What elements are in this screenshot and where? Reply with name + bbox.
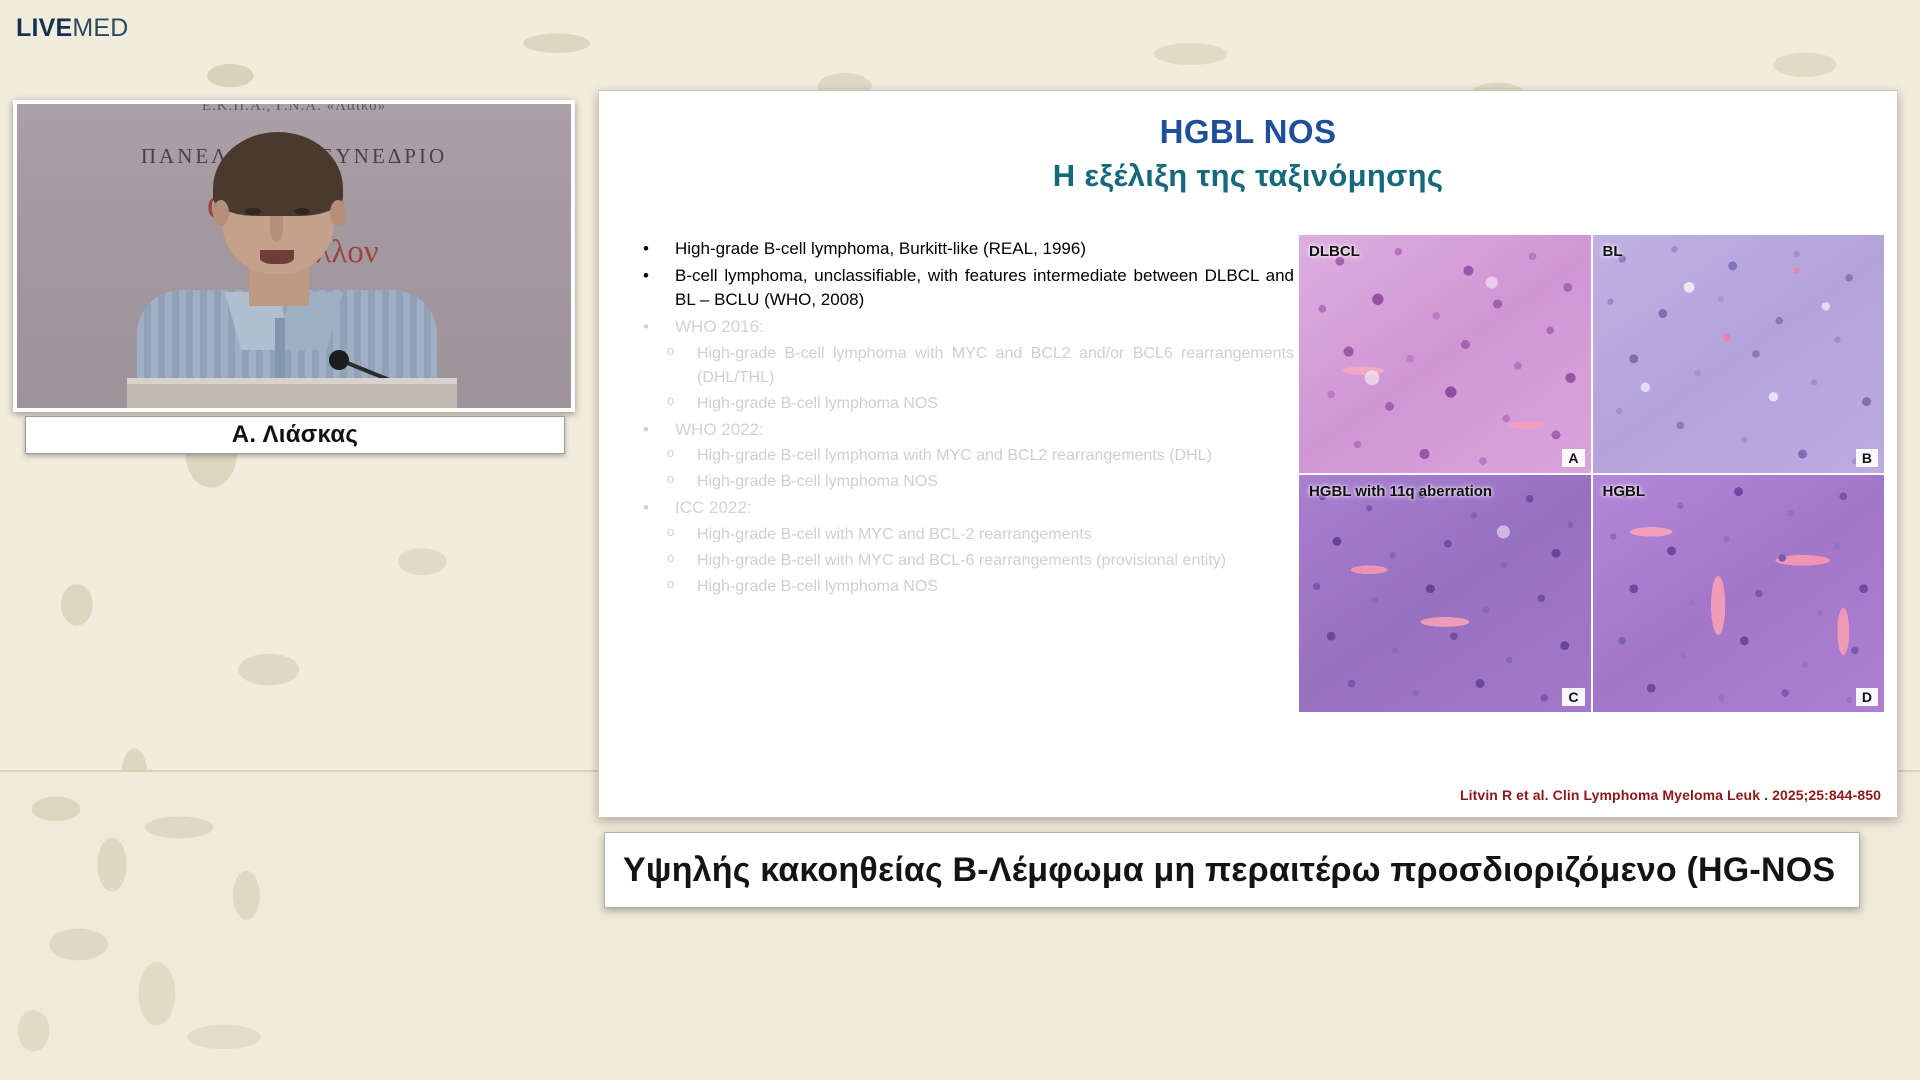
bullet-item: •ICC 2022: [639, 496, 1294, 521]
bullet-sub-text: High-grade B-cell lymphoma with MYC and … [697, 342, 1294, 390]
bullet-sub-item: oHigh-grade B-cell lymphoma NOS [639, 392, 1294, 416]
slide-bullet-list: •High-grade B-cell lymphoma, Burkitt-lik… [639, 237, 1294, 601]
histology-panel-a: DLBCL A [1299, 235, 1591, 473]
speaker-name: Α. Λιάσκας [232, 421, 358, 449]
bullet-marker: • [639, 315, 675, 340]
bullet-marker: • [639, 264, 675, 313]
bullet-sub-marker: o [639, 523, 697, 547]
livemed-logo: LIVEMED [16, 16, 129, 41]
tissue-image-d [1593, 475, 1885, 713]
bullet-sub-text: High-grade B-cell with MYC and BCL-2 rea… [697, 523, 1294, 547]
panel-c-label: HGBL with 11q aberration [1309, 483, 1492, 500]
presentation-slide[interactable]: HGBL NOS Η εξέλιξη της ταξινόμησης •High… [598, 90, 1898, 818]
tissue-image-a [1299, 235, 1591, 473]
bullet-item: •High-grade B-cell lymphoma, Burkitt-lik… [639, 237, 1294, 262]
bullet-item: •WHO 2022: [639, 418, 1294, 443]
bullet-sub-text: High-grade B-cell lymphoma with MYC and … [697, 444, 1294, 468]
speaker-name-plate: Α. Λιάσκας [25, 416, 565, 454]
tissue-image-c [1299, 475, 1591, 713]
speaker-ear-right [330, 200, 346, 226]
slide-title: HGBL NOS [599, 113, 1897, 151]
bullet-sub-item: oHigh-grade B-cell lymphoma with MYC and… [639, 444, 1294, 468]
histology-panel-d: HGBL D [1593, 475, 1885, 713]
panel-c-letter: C [1562, 688, 1584, 706]
speaker-brow-right [289, 196, 315, 202]
bullet-marker: • [639, 237, 675, 262]
speaker-brow-left [239, 196, 265, 202]
bullet-marker: • [639, 496, 675, 521]
speaker-ear-left [213, 200, 229, 226]
panel-d-label: HGBL [1603, 483, 1646, 500]
panel-a-label: DLBCL [1309, 243, 1360, 260]
bullet-sub-item: oHigh-grade B-cell lymphoma NOS [639, 470, 1294, 494]
page-footer: ΠΑΝΕΛΛΗΝΙΟ ΣΥΝΕΔΡΙΟ Θεραπείες από το Μέλ… [0, 780, 1920, 1080]
bullet-sub-item: oHigh-grade B-cell lymphoma NOS [639, 575, 1294, 599]
bullet-item: •WHO 2016: [639, 315, 1294, 340]
bullet-text: High-grade B-cell lymphoma, Burkitt-like… [675, 237, 1294, 262]
podium [127, 378, 457, 408]
speaker-eye-right [294, 208, 310, 215]
bullet-text: B-cell lymphoma, unclassifiable, with fe… [675, 264, 1294, 313]
bullet-marker: • [639, 418, 675, 443]
bullet-sub-marker: o [639, 549, 697, 573]
logo-live-text: LIVE [16, 14, 72, 42]
slide-subtitle: Η εξέλιξη της ταξινόμησης [599, 158, 1897, 194]
bullet-text: WHO 2022: [675, 418, 1294, 443]
bullet-text: ICC 2022: [675, 496, 1294, 521]
bullet-sub-marker: o [639, 392, 697, 416]
bullet-item: •B-cell lymphoma, unclassifiable, with f… [639, 264, 1294, 313]
bullet-sub-item: oHigh-grade B-cell lymphoma with MYC and… [639, 342, 1294, 390]
bullet-sub-marker: o [639, 444, 697, 468]
panel-d-letter: D [1856, 688, 1878, 706]
histology-figure: DLBCL A BL B HGBL with 11q aberration C … [1299, 235, 1884, 712]
speaker-mouth [260, 250, 294, 264]
bullet-sub-marker: o [639, 342, 697, 390]
panel-b-letter: B [1856, 449, 1878, 467]
speaker-nose [270, 216, 283, 242]
bullet-sub-text: High-grade B-cell with MYC and BCL-6 rea… [697, 549, 1294, 573]
logo-med-text: MED [72, 14, 128, 42]
bullet-text: WHO 2016: [675, 315, 1294, 340]
bullet-sub-text: High-grade B-cell lymphoma NOS [697, 470, 1294, 494]
histology-panel-b: BL B [1593, 235, 1885, 473]
bullet-sub-item: oHigh-grade B-cell with MYC and BCL-6 re… [639, 549, 1294, 573]
bullet-sub-marker: o [639, 470, 697, 494]
tissue-image-b [1593, 235, 1885, 473]
panel-b-label: BL [1603, 243, 1623, 260]
video-bg-slide-header: Ε.Κ.Π.Α., Γ.Ν.Α. «Λαϊκό» [17, 100, 571, 115]
bullet-sub-text: High-grade B-cell lymphoma NOS [697, 575, 1294, 599]
bullet-sub-text: High-grade B-cell lymphoma NOS [697, 392, 1294, 416]
histology-panel-c: HGBL with 11q aberration C [1299, 475, 1591, 713]
bullet-sub-marker: o [639, 575, 697, 599]
microphone-icon [329, 350, 349, 370]
speaker-video[interactable]: Ε.Κ.Π.Α., Γ.Ν.Α. «Λαϊκό» ΠΑΝΕΛΛΗΝΙΟ ΣΥΝΕ… [13, 100, 575, 412]
bullet-sub-item: oHigh-grade B-cell with MYC and BCL-2 re… [639, 523, 1294, 547]
panel-a-letter: A [1562, 449, 1584, 467]
speaker-eye-left [245, 208, 261, 215]
